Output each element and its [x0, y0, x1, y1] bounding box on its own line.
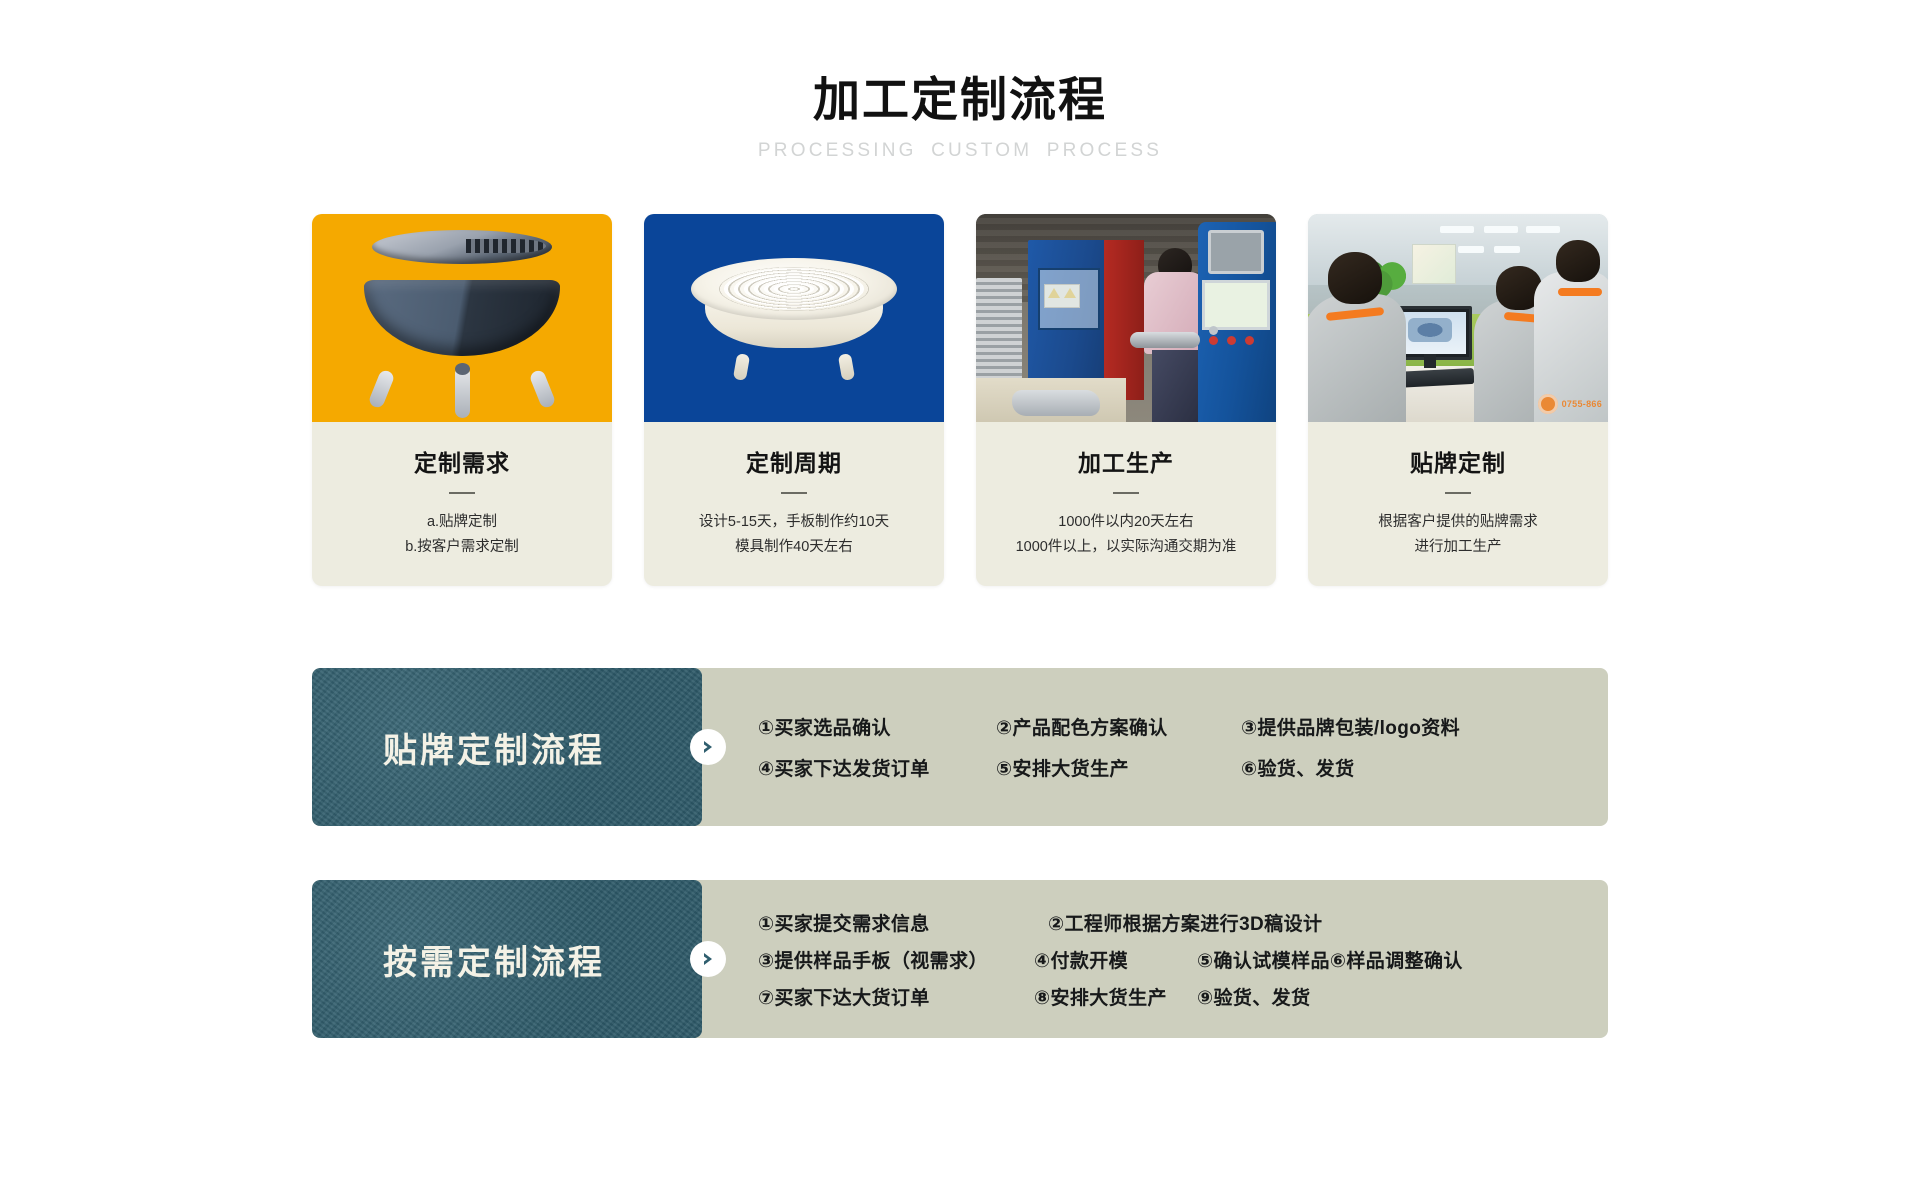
card-divider [781, 492, 807, 494]
worker-pants [1152, 350, 1200, 422]
warning-label-icon [1044, 284, 1080, 308]
prototype-shape [691, 258, 897, 362]
step-row: ⑦买家下达大货订单 ⑧安排大货生产 ⑨验货、发货 [758, 983, 1578, 1010]
feature-card-production[interactable]: 加工生产 1000件以内20天左右 1000件以上，以实际沟通交期为准 [976, 214, 1276, 586]
feature-card-custom-requirement[interactable]: 定制需求 a.贴牌定制 b.按客户需求定制 [312, 214, 612, 586]
card-title: 加工生产 [988, 444, 1264, 478]
product-lid-shape [372, 230, 552, 264]
page-root: 加工定制流程 PROCESSING CUSTOM PROCESS 定制需求 a.… [0, 0, 1920, 1200]
step-row: ④买家下达发货订单 ⑤安排大货生产 ⑥验货、发货 [758, 754, 1578, 781]
ceiling-light-icon [1526, 226, 1560, 233]
molded-part [1012, 390, 1100, 416]
card-title: 定制周期 [656, 444, 932, 478]
card-image-office: 0755-866 [1308, 214, 1608, 422]
card-description-line: 1000件以上，以实际沟通交期为准 [988, 535, 1264, 560]
card-description: 1000件以内20天左右 1000件以上，以实际沟通交期为准 [988, 510, 1264, 560]
banner-label-oem: 贴牌定制流程 [312, 668, 702, 826]
engineer-left-head [1328, 252, 1382, 304]
factory-pipe [1130, 332, 1200, 348]
card-body: 定制需求 a.贴牌定制 b.按客户需求定制 [312, 422, 612, 586]
process-step: ⑨验货、发货 [1197, 983, 1311, 1010]
process-step: ⑥样品调整确认 [1330, 946, 1463, 973]
card-image-factory [976, 214, 1276, 422]
process-step: ⑥验货、发货 [1241, 754, 1355, 781]
exploded-product-render-icon [312, 214, 612, 422]
control-panel-screen-main [1202, 280, 1270, 330]
prototype-top [691, 258, 897, 320]
factory-photo-icon [976, 214, 1276, 422]
office-photo-icon: 0755-866 [1308, 214, 1608, 422]
card-title: 贴牌定制 [1320, 444, 1596, 478]
chevron-right-icon[interactable] [690, 729, 726, 765]
card-title: 定制需求 [324, 444, 600, 478]
chevron-right-icon[interactable] [690, 941, 726, 977]
process-step: ①买家提交需求信息 [758, 909, 1048, 936]
prototype-spiral-pattern [719, 267, 869, 311]
process-banner-oem: 贴牌定制流程 ①买家选品确认 ②产品配色方案确认 ③提供品牌包装/logo资料 … [312, 668, 1608, 826]
feature-card-custom-cycle[interactable]: 定制周期 设计5-15天，手板制作约10天 模具制作40天左右 [644, 214, 944, 586]
card-divider [1445, 492, 1471, 494]
product-leg-right [528, 369, 556, 410]
card-body: 贴牌定制 根据客户提供的贴牌需求 进行加工生产 [1308, 422, 1608, 586]
process-step: ⑦买家下达大货订单 [758, 983, 1034, 1010]
process-step: ①买家选品确认 [758, 713, 996, 740]
process-step: ⑧安排大货生产 [1034, 983, 1197, 1010]
step-row: ③提供样品手板（视需求） ④付款开模 ⑤确认试模样品 ⑥样品调整确认 [758, 946, 1578, 973]
card-divider [1113, 492, 1139, 494]
feature-cards: 定制需求 a.贴牌定制 b.按客户需求定制 [312, 214, 1608, 586]
process-step: ③提供品牌包装/logo资料 [1241, 713, 1460, 740]
engineer-right-collar [1558, 288, 1602, 296]
cad-drawing-on-screen [1408, 318, 1452, 342]
watermark-text: 0755-866 [1562, 399, 1602, 409]
control-panel-screen-top [1208, 230, 1264, 274]
process-step: ②工程师根据方案进行3D稿设计 [1048, 909, 1322, 936]
process-step: ⑤确认试模样品 [1197, 946, 1330, 973]
ceiling-light-icon [1494, 246, 1520, 253]
product-leg-left [367, 369, 395, 410]
step-row: ①买家提交需求信息 ②工程师根据方案进行3D稿设计 [758, 909, 1578, 936]
product-leg-center [455, 366, 470, 418]
engineer-right-head [1556, 240, 1600, 282]
card-description-line: 进行加工生产 [1320, 535, 1596, 560]
prototype-leg-right [838, 353, 855, 381]
card-description-line: 根据客户提供的贴牌需求 [1320, 510, 1596, 535]
card-description-line: 1000件以内20天左右 [988, 510, 1264, 535]
page-header: 加工定制流程 PROCESSING CUSTOM PROCESS [0, 0, 1920, 162]
card-description-line: 模具制作40天左右 [656, 535, 932, 560]
card-body: 加工生产 1000件以内20天左右 1000件以上，以实际沟通交期为准 [976, 422, 1276, 586]
card-image-exploded-product [312, 214, 612, 422]
banner-label-text: 按需定制流程 [383, 935, 631, 984]
brand-logo-icon [1538, 394, 1558, 414]
white-prototype-render-icon [644, 214, 944, 422]
card-description: 设计5-15天，手板制作约10天 模具制作40天左右 [656, 510, 932, 560]
card-divider [449, 492, 475, 494]
wall-poster [1412, 244, 1456, 284]
process-step: ④买家下达发货订单 [758, 754, 996, 781]
process-step: ④付款开模 [1034, 946, 1197, 973]
card-image-white-prototype [644, 214, 944, 422]
prototype-leg-left [733, 353, 750, 381]
ceiling-light-icon [1458, 246, 1484, 253]
process-step: ③提供样品手板（视需求） [758, 946, 1034, 973]
page-title: 加工定制流程 [0, 72, 1920, 128]
process-step: ⑤安排大货生产 [996, 754, 1241, 781]
factory-red-frame [1104, 240, 1144, 400]
ceiling-light-icon [1484, 226, 1518, 233]
monitor-stand [1424, 354, 1436, 368]
watermark: 0755-866 [1538, 394, 1602, 414]
banner-label-text: 贴牌定制流程 [383, 723, 631, 772]
ceiling-light-icon [1440, 226, 1474, 233]
banner-steps-ondemand: ①买家提交需求信息 ②工程师根据方案进行3D稿设计 ③提供样品手板（视需求） ④… [702, 880, 1608, 1038]
process-step: ②产品配色方案确认 [996, 713, 1241, 740]
banner-label-ondemand: 按需定制流程 [312, 880, 702, 1038]
card-description-line: 设计5-15天，手板制作约10天 [656, 510, 932, 535]
step-row: ①买家选品确认 ②产品配色方案确认 ③提供品牌包装/logo资料 [758, 713, 1578, 740]
card-description: 根据客户提供的贴牌需求 进行加工生产 [1320, 510, 1596, 560]
card-description-line: b.按客户需求定制 [324, 535, 600, 560]
feature-card-oem[interactable]: 0755-866 贴牌定制 根据客户提供的贴牌需求 进行加工生产 [1308, 214, 1608, 586]
page-subtitle: PROCESSING CUSTOM PROCESS [0, 140, 1920, 162]
card-description: a.贴牌定制 b.按客户需求定制 [324, 510, 600, 560]
process-banner-ondemand: 按需定制流程 ①买家提交需求信息 ②工程师根据方案进行3D稿设计 ③提供样品手板… [312, 880, 1608, 1038]
product-bowl-shape [364, 280, 560, 356]
factory-blue-machine [1028, 240, 1108, 390]
banner-steps-oem: ①买家选品确认 ②产品配色方案确认 ③提供品牌包装/logo资料 ④买家下达发货… [702, 668, 1608, 826]
card-body: 定制周期 设计5-15天，手板制作约10天 模具制作40天左右 [644, 422, 944, 586]
card-description-line: a.贴牌定制 [324, 510, 600, 535]
